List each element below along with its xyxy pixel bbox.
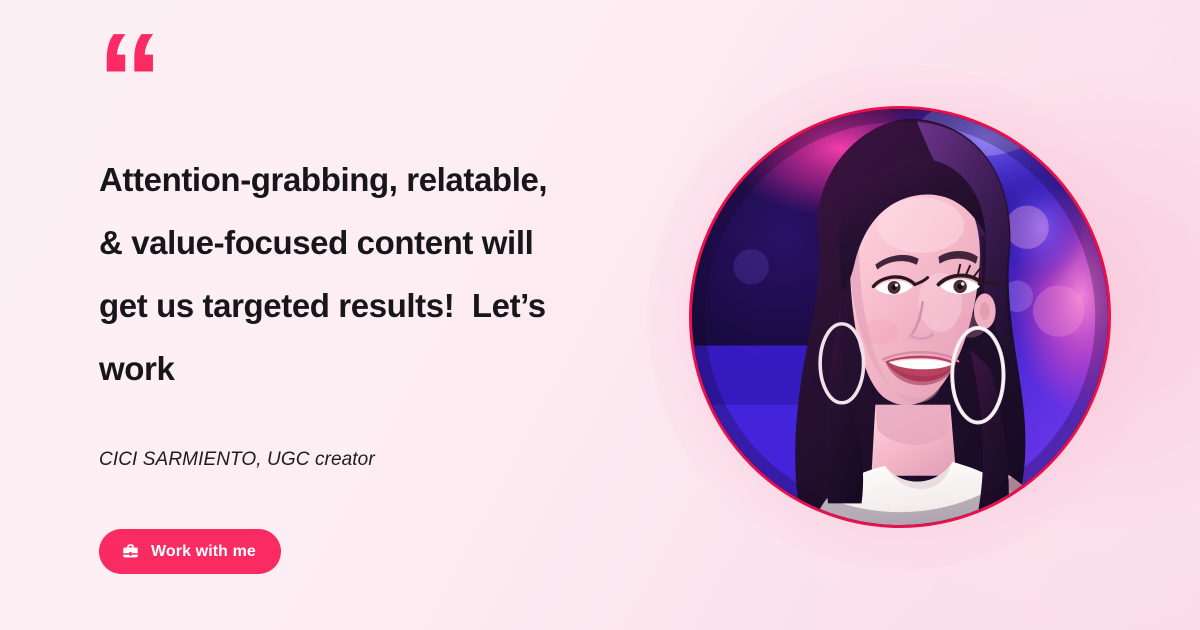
briefcase-icon <box>121 542 140 561</box>
testimonial-content: “ Attention-grabbing, relatable, & value… <box>99 0 619 630</box>
testimonial-quote: Attention-grabbing, relatable, & value-f… <box>99 148 569 400</box>
quote-mark-icon: “ <box>97 14 161 146</box>
testimonial-card: “ Attention-grabbing, relatable, & value… <box>0 0 1200 630</box>
creator-portrait <box>689 106 1111 528</box>
testimonial-attribution: CICI SARMIENTO, UGC creator <box>99 449 375 471</box>
work-with-me-button[interactable]: Work with me <box>99 529 281 574</box>
avatar <box>689 106 1111 528</box>
work-with-me-label: Work with me <box>151 543 256 561</box>
